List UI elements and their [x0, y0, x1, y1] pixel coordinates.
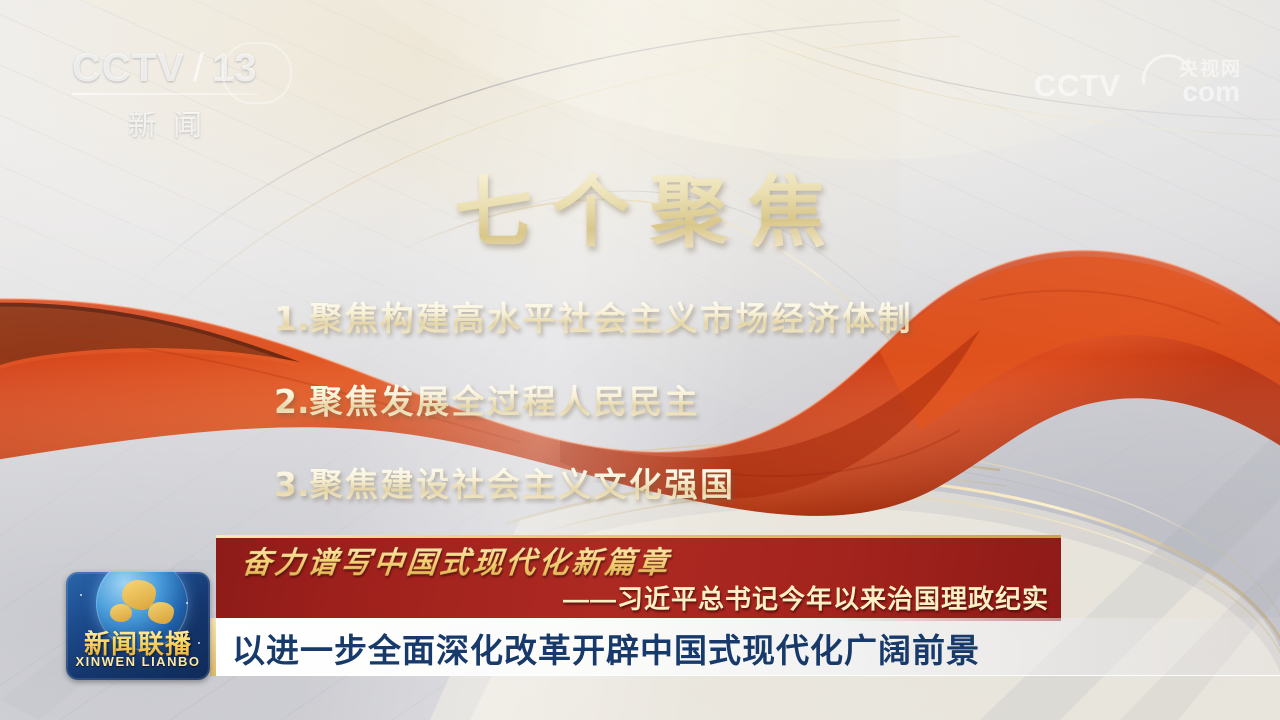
program-subtitle: ——习近平总书记今年以来治国理政纪实	[563, 579, 1049, 616]
globe-landmass	[148, 602, 174, 624]
globe-landmass	[110, 604, 132, 622]
list-item-number: 2.	[274, 382, 310, 421]
channel-bug-cctv13: CCTV / 13 新闻	[72, 48, 272, 144]
star-dot	[80, 594, 82, 596]
channel-bug-network: CCTV	[72, 48, 185, 88]
list-item: 1.聚焦构建高水平社会主义市场经济体制	[274, 300, 1174, 339]
channel-bug-subtitle: 新闻	[72, 102, 258, 144]
list-item-text: 聚焦建设社会主义文化强国	[310, 465, 736, 504]
news-headline-bar: 以进一步全面深化改革开辟中国式现代化广阔前景	[210, 618, 1280, 676]
news-headline: 以进一步全面深化改革开辟中国式现代化广阔前景	[232, 624, 980, 672]
watermark-com-label: com	[1182, 76, 1240, 108]
xinwen-lianbo-logo: 新闻联播 XINWEN LIANBO	[66, 572, 210, 680]
channel-bug-ring	[222, 42, 292, 104]
channel-bug-slash: /	[193, 48, 204, 88]
list-item-text: 聚焦构建高水平社会主义市场经济体制	[310, 299, 914, 338]
star-dot	[186, 602, 188, 604]
list-item-number: 3.	[274, 465, 310, 504]
program-banner: 奋力谱写中国式现代化新篇章 ——习近平总书记今年以来治国理政纪实	[216, 535, 1061, 621]
list-item: 2.聚焦发展全过程人民民主	[274, 383, 1174, 422]
lower-third: 奋力谱写中国式现代化新篇章 ——习近平总书记今年以来治国理政纪实 以进一步全面深…	[0, 530, 1280, 720]
watermark-cctv-com: CCTV 央视网 com	[1034, 58, 1242, 110]
broadcast-screen: CCTV / 13 新闻 CCTV 央视网 com 七个聚焦 1.聚焦构建高水平…	[0, 0, 1280, 720]
list-item: 3.聚焦建设社会主义文化强国	[274, 466, 1174, 505]
logo-en-text: XINWEN LIANBO	[66, 654, 210, 669]
focus-list: 1.聚焦构建高水平社会主义市场经济体制 2.聚焦发展全过程人民民主 3.聚焦建设…	[274, 300, 1174, 549]
news-headline-gold-edge	[210, 618, 216, 676]
list-item-text: 聚焦发展全过程人民民主	[310, 382, 701, 421]
program-title: 奋力谱写中国式现代化新篇章	[240, 538, 674, 582]
watermark-network: CCTV	[1034, 68, 1120, 104]
page-title: 七个聚焦	[0, 150, 1280, 262]
list-item-number: 1.	[274, 299, 310, 338]
